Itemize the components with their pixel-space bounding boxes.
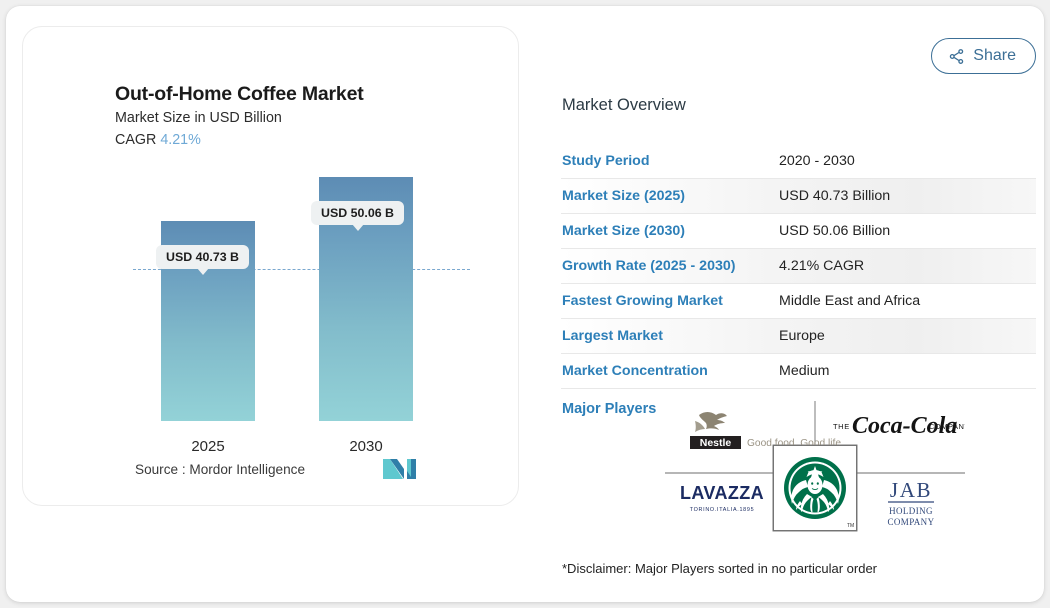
player-logo-jab: JAB HOLDING COMPANY	[888, 478, 935, 527]
table-row: Market Size (2030) USD 50.06 Billion	[561, 214, 1036, 249]
share-button-label: Share	[973, 47, 1016, 65]
cagr-value: 4.21%	[160, 132, 201, 148]
jab-company: COMPANY	[888, 517, 935, 527]
chart-panel: Out-of-Home Coffee Market Market Size in…	[22, 26, 519, 506]
table-row: Market Concentration Medium	[561, 354, 1036, 389]
major-players-title: Major Players	[562, 401, 656, 417]
row-key: Market Size (2025)	[561, 188, 779, 204]
lavazza-tagline: TORINO.ITALIA.1895	[690, 507, 755, 513]
row-value: Europe	[779, 328, 1036, 344]
source-text: Source : Mordor Intelligence	[135, 462, 305, 477]
cagr-label: CAGR	[115, 132, 156, 148]
jab-holding: HOLDING	[889, 506, 933, 516]
bar-label-2025: USD 40.73 B	[156, 245, 249, 269]
player-logo-starbucks: TM	[774, 446, 857, 531]
row-value: 4.21% CAGR	[779, 258, 1036, 274]
row-value: USD 50.06 Billion	[779, 223, 1036, 239]
player-logo-coca-cola: THE Coca-Cola COMPANY	[833, 413, 965, 439]
overview-title: Market Overview	[562, 96, 686, 115]
nestle-wordmark: Nestle	[700, 437, 732, 449]
share-button[interactable]: Share	[931, 38, 1036, 74]
cocacola-company: COMPANY	[929, 422, 965, 431]
source-row: Source : Mordor Intelligence	[135, 459, 416, 479]
x-axis-label-2030: 2030	[319, 438, 413, 455]
major-players-grid: Nestle Good food, Good life THE Coca-Col…	[665, 401, 965, 551]
bar-label-2030: USD 50.06 B	[311, 201, 404, 225]
cocacola-the: THE	[833, 422, 850, 431]
mordor-intelligence-logo	[383, 459, 416, 479]
row-key: Fastest Growing Market	[561, 293, 779, 309]
table-row: Growth Rate (2025 - 2030) 4.21% CAGR	[561, 249, 1036, 284]
lavazza-wordmark: LAVAZZA	[680, 483, 764, 503]
table-row: Fastest Growing Market Middle East and A…	[561, 284, 1036, 319]
row-key: Study Period	[561, 153, 779, 169]
chart-cagr: CAGR4.21%	[115, 132, 201, 148]
market-overview-table: Study Period 2020 - 2030 Market Size (20…	[561, 144, 1036, 389]
table-row: Study Period 2020 - 2030	[561, 144, 1036, 179]
player-logo-lavazza: LAVAZZA TORINO.ITALIA.1895	[680, 483, 764, 513]
row-key: Largest Market	[561, 328, 779, 344]
jab-wordmark: JAB	[890, 478, 932, 502]
table-row: Market Size (2025) USD 40.73 Billion	[561, 179, 1036, 214]
disclaimer-text: *Disclaimer: Major Players sorted in no …	[562, 561, 877, 576]
row-value: Medium	[779, 363, 1036, 379]
chart-title: Out-of-Home Coffee Market	[115, 83, 364, 106]
x-axis-label-2025: 2025	[161, 438, 255, 455]
row-value: Middle East and Africa	[779, 293, 1036, 309]
row-key: Market Concentration	[561, 363, 779, 379]
row-key: Growth Rate (2025 - 2030)	[561, 258, 779, 274]
row-value: USD 40.73 Billion	[779, 188, 1036, 204]
row-key: Market Size (2030)	[561, 223, 779, 239]
market-overview-panel: Share Market Overview Study Period 2020 …	[561, 26, 1036, 586]
player-logo-nestle: Nestle Good food, Good life	[690, 412, 841, 449]
table-row: Largest Market Europe	[561, 319, 1036, 354]
chart-subtitle: Market Size in USD Billion	[115, 110, 282, 126]
row-value: 2020 - 2030	[779, 153, 1036, 169]
starbucks-tm: TM	[847, 523, 854, 529]
report-card: Out-of-Home Coffee Market Market Size in…	[6, 6, 1044, 602]
bar-chart-plot: USD 40.73 B USD 50.06 B 2025 2030	[115, 177, 475, 469]
share-nodes-icon	[948, 48, 965, 65]
